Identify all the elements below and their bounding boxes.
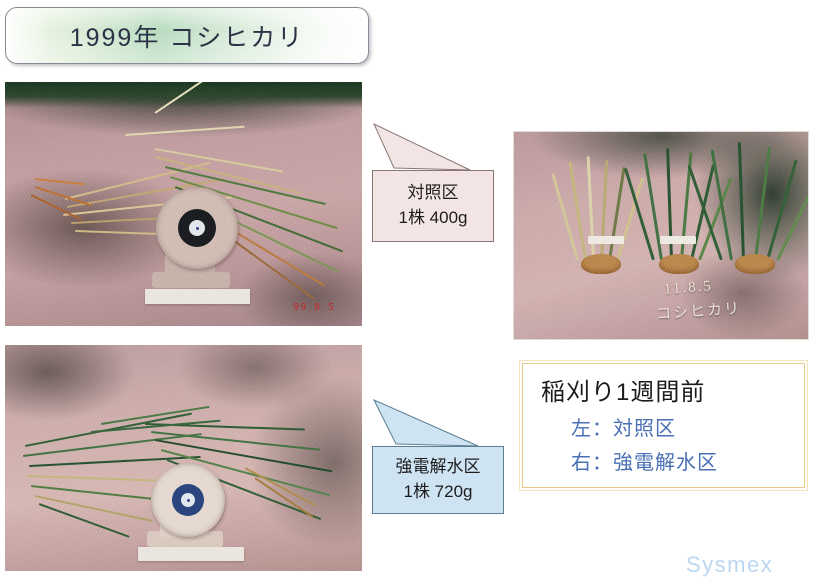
callout-control-body: 対照区 1株 400g — [372, 170, 494, 242]
photo-treated-plot — [5, 345, 362, 571]
legend-left-label: 左：対照区 — [571, 412, 790, 441]
callout-control-pointer — [372, 124, 494, 174]
callout-treated-line2: 1株 720g — [404, 480, 473, 505]
callout-treated: 強電解水区 1株 720g — [372, 400, 504, 514]
photo-control-plot: 99 8 5 — [5, 82, 362, 326]
photo-bundle-comparison: 11.8.5 コシヒカリ — [513, 131, 809, 340]
callout-control: 対照区 1株 400g — [372, 124, 494, 242]
slide-canvas: 1999年 コシヒカリ — [0, 0, 815, 583]
legend-heading: 稲刈り1週間前 — [541, 372, 790, 407]
page-title: 1999年 コシヒカリ — [70, 18, 305, 54]
legend-box: 稲刈り1週間前 左：対照区 右：強電解水区 — [522, 363, 805, 488]
callout-control-line2: 1株 400g — [399, 206, 468, 231]
photo-bundles-grain — [514, 132, 808, 339]
title-banner: 1999年 コシヒカリ — [5, 7, 369, 64]
callout-treated-pointer — [372, 400, 504, 450]
photo-treated-grain — [5, 345, 362, 571]
callout-control-line1: 対照区 — [408, 181, 459, 206]
callout-treated-line1: 強電解水区 — [396, 455, 481, 480]
sysmex-logo: Sysmex — [686, 552, 773, 578]
photo-control-grain — [5, 82, 362, 326]
callout-treated-body: 強電解水区 1株 720g — [372, 446, 504, 514]
legend-right-label: 右：強電解水区 — [571, 446, 790, 475]
